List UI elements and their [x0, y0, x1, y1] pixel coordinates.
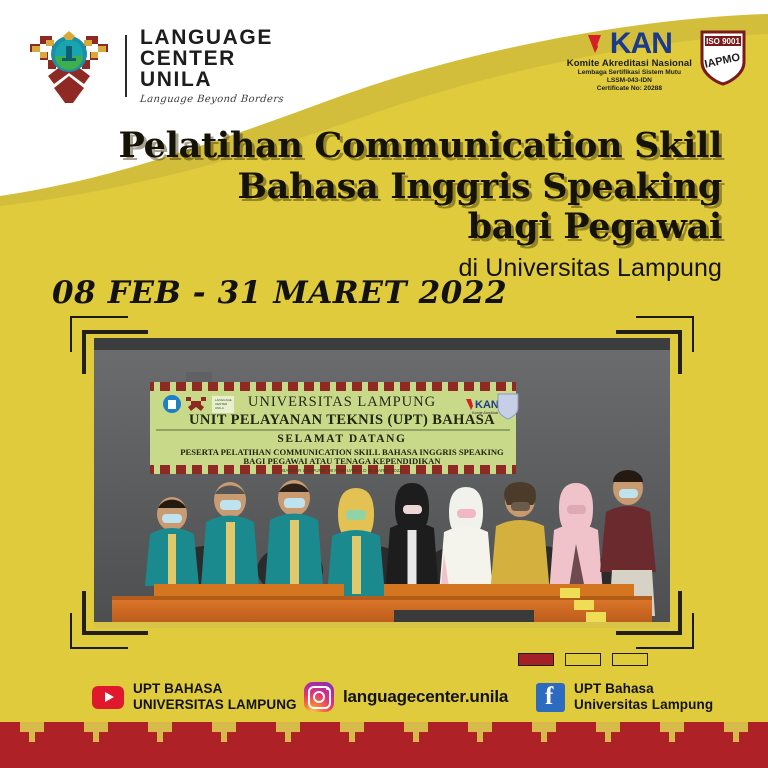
logo-line-3: UNILA — [140, 69, 284, 90]
pagination-dot-1[interactable] — [518, 653, 554, 666]
headline-line-2: Bahasa Inggris Speaking — [119, 167, 722, 208]
headline-line-3: bagi Pegawai — [119, 207, 722, 248]
instagram-handle: languagecenter.unila — [343, 687, 508, 708]
facebook-label-line-1: UPT Bahasa — [574, 681, 654, 696]
kan-wordmark: KAN — [610, 30, 672, 57]
facebook-label-line-2: Universitas Lampung — [574, 697, 713, 712]
pagination-dot-3[interactable] — [612, 653, 648, 666]
social-instagram[interactable]: languagecenter.unila — [304, 682, 536, 712]
kan-detail-1: Lembaga Sertifikasi Sistem Mutu — [578, 69, 681, 77]
svg-text:KAN: KAN — [475, 399, 499, 411]
logo-line-1: LANGUAGE — [140, 27, 284, 48]
svg-text:ISO 9001: ISO 9001 — [706, 37, 740, 46]
photo-frame: LANGUAGECENTERUNILA UNIVERSITAS LAMPUNG … — [62, 310, 702, 655]
brand-logo-block: LANGUAGE CENTER UNILA Language Beyond Bo… — [26, 26, 284, 106]
kan-check-icon — [587, 32, 609, 56]
group-photo-training-participants: LANGUAGECENTERUNILA UNIVERSITAS LAMPUNG … — [94, 338, 670, 628]
svg-text:SELAMAT DATANG: SELAMAT DATANG — [277, 433, 406, 445]
svg-text:UNIVERSITAS LAMPUNG: UNIVERSITAS LAMPUNG — [248, 394, 436, 410]
kan-subtitle: Komite Akreditasi Nasional — [567, 58, 692, 69]
svg-text:BANDAR LAMPUNG, 08 FEBRUARI S.: BANDAR LAMPUNG, 08 FEBRUARI S.D 31 MARET… — [282, 468, 402, 473]
instagram-icon — [304, 682, 334, 712]
youtube-label-line-1: UPT BAHASA — [133, 681, 223, 696]
poster-canvas: LANGUAGE CENTER UNILA Language Beyond Bo… — [0, 0, 768, 768]
social-youtube[interactable]: UPT BAHASA UNIVERSITAS LAMPUNG — [92, 681, 304, 714]
facebook-icon — [536, 683, 565, 712]
social-facebook[interactable]: UPT Bahasa Universitas Lampung — [536, 681, 713, 714]
unila-language-center-logo-icon — [26, 26, 112, 106]
social-footer: UPT BAHASA UNIVERSITAS LAMPUNG languagec… — [0, 672, 768, 722]
tapis-border-decoration — [0, 722, 768, 768]
svg-text:UNIT PELAYANAN TEKNIS (UPT) BA: UNIT PELAYANAN TEKNIS (UPT) BAHASA — [189, 412, 495, 428]
headline-line-1: Pelatihan Communication Skill — [119, 126, 722, 167]
kan-detail-3: Certificate No: 20288 — [597, 85, 662, 93]
svg-text:BAGI PEGAWAI ATAU TENAGA KEPEN: BAGI PEGAWAI ATAU TENAGA KEPENDIDIKAN — [243, 456, 441, 466]
iso-9001-iapmo-badge-icon: ISO 9001 IAPMO — [700, 30, 746, 86]
accreditation-block: KAN Komite Akreditasi Nasional Lembaga S… — [567, 30, 746, 94]
svg-text:Komite Akreditasi: Komite Akreditasi — [472, 411, 498, 415]
svg-text:UNILA: UNILA — [215, 406, 224, 410]
headline-block: Pelatihan Communication Skill Bahasa Ing… — [119, 126, 722, 283]
youtube-icon — [92, 686, 124, 709]
date-range-text: 08 FEB - 31 MARET 2022 — [52, 275, 507, 311]
logo-divider — [125, 35, 127, 97]
kan-detail-2: LSSM-043-IDN — [607, 77, 652, 85]
logo-tagline: Language Beyond Borders — [139, 95, 284, 105]
youtube-label-line-2: UNIVERSITAS LAMPUNG — [133, 697, 297, 712]
pagination-indicators[interactable] — [518, 653, 648, 666]
pagination-dot-2[interactable] — [565, 653, 601, 666]
logo-line-2: CENTER — [140, 48, 284, 69]
